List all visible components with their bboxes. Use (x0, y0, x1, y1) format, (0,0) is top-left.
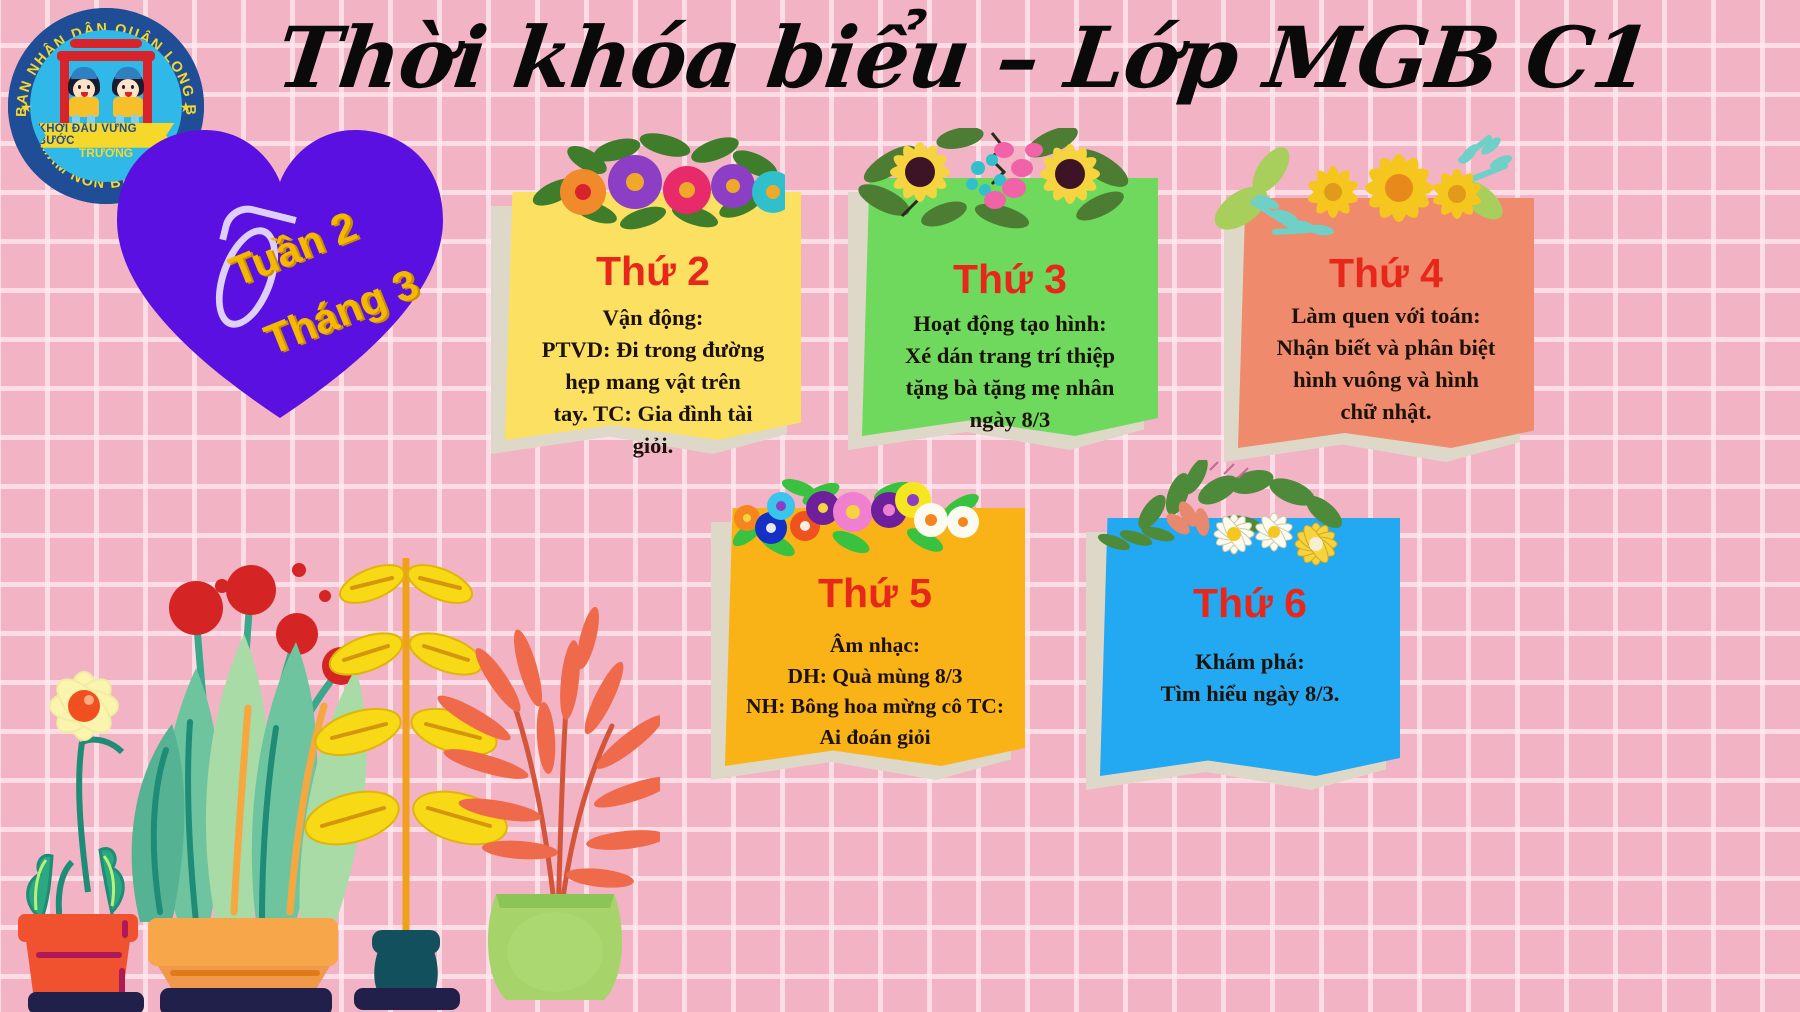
day-body-line: PTVD: Đi trong đường (532, 334, 775, 366)
day-title: Thứ 4 (1238, 250, 1534, 297)
day-body-line: ngày 8/3 (889, 404, 1132, 436)
day-body-line: tay. TC: Gia đình tài (532, 398, 775, 430)
logo-children (30, 70, 182, 126)
day-card-thu-4[interactable]: Thứ 4 Làm quen với toán: Nhận biết và ph… (1238, 198, 1534, 448)
day-card-thu-3[interactable]: Thứ 3 Hoạt động tạo hình: Xé dán trang t… (862, 178, 1158, 436)
day-card-thu-2[interactable]: Thứ 2 Vận động: PTVD: Đi trong đường hẹp… (505, 192, 801, 440)
page-title: Thời khóa biểu – Lớp MGB C1 (272, 10, 1344, 107)
week-badge: Tuần 2 Tháng 3 (115, 120, 445, 420)
logo-roof-top (70, 39, 143, 48)
day-body-line: NH: Bông hoa mừng cô TC: (737, 691, 1013, 722)
logo-child-boy (107, 70, 149, 126)
small-flower-in-red-pot (18, 671, 144, 1012)
day-body-line: Âm nhạc: (737, 630, 1013, 661)
yellow-flower (49, 671, 120, 742)
day-body-line: Ai đoán giỏi (737, 722, 1013, 753)
day-card-thu-5[interactable]: Thứ 5 Âm nhạc: DH: Quà mùng 8/3 NH: Bông… (725, 508, 1025, 766)
star-icon: ★ (20, 100, 33, 117)
day-body-line: Nhận biết và phân biệt (1265, 332, 1508, 364)
logo-child-girl (63, 70, 105, 126)
leafy-plant-in-orange-pot (148, 918, 338, 1012)
day-body-line: Làm quen với toán: (1265, 300, 1508, 332)
day-body-line: hình vuông và hình (1265, 364, 1508, 396)
day-body: Vận động: PTVD: Đi trong đường hẹp mang … (532, 302, 775, 462)
day-title: Thứ 3 (862, 256, 1158, 303)
day-body-line: Tìm hiểu ngày 8/3. (1127, 678, 1373, 710)
day-body-line: hẹp mang vật trên (532, 366, 775, 398)
day-body-line: Hoạt động tạo hình: (889, 308, 1132, 340)
day-body: Làm quen với toán: Nhận biết và phân biệ… (1265, 300, 1508, 428)
day-body-line: chữ nhật. (1265, 396, 1508, 428)
day-body-line: Khám phá: (1127, 646, 1373, 678)
plant-decoration-group (0, 492, 660, 1012)
day-body-line: giỏi. (532, 430, 775, 462)
day-title: Thứ 6 (1100, 580, 1400, 627)
star-icon: ★ (179, 100, 192, 117)
day-body: Âm nhạc: DH: Quà mùng 8/3 NH: Bông hoa m… (737, 630, 1013, 752)
day-body-line: Vận động: (532, 302, 775, 334)
logo-roof (57, 51, 154, 61)
day-body: Khám phá: Tìm hiểu ngày 8/3. (1127, 646, 1373, 710)
day-body-line: DH: Quà mùng 8/3 (737, 661, 1013, 692)
day-title: Thứ 2 (505, 248, 801, 295)
day-body-line: Xé dán trang trí thiệp (889, 340, 1132, 372)
day-card-thu-6[interactable]: Thứ 6 Khám phá: Tìm hiểu ngày 8/3. (1100, 518, 1400, 776)
day-title: Thứ 5 (725, 570, 1025, 617)
day-body: Hoạt động tạo hình: Xé dán trang trí thi… (889, 308, 1132, 436)
day-body-line: tặng bà tặng mẹ nhân (889, 372, 1132, 404)
